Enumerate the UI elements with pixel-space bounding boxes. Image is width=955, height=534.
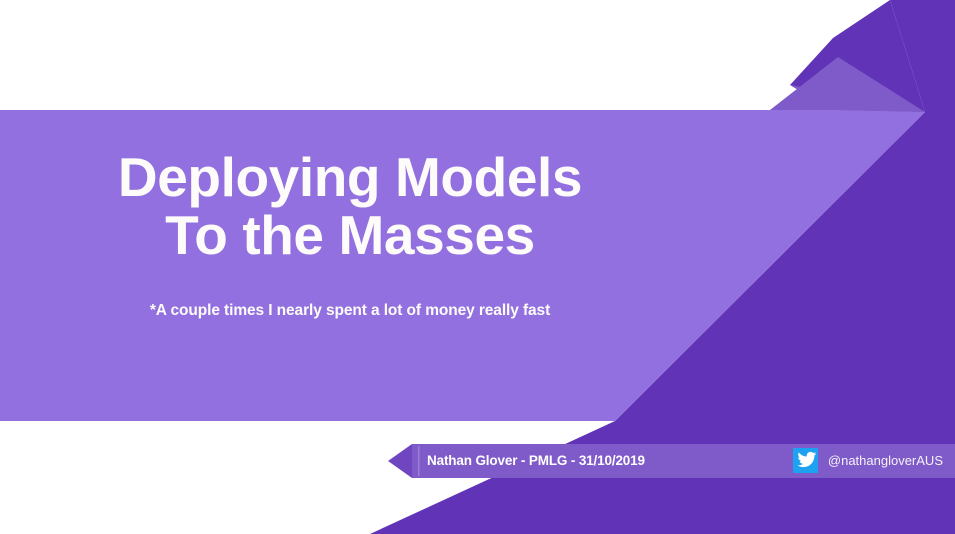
twitter-handle-text[interactable]: @nathangloverAUS bbox=[828, 453, 943, 468]
page-title: Deploying Models To the Masses bbox=[0, 148, 700, 264]
presentation-slide: Deploying Models To the Masses *A couple… bbox=[0, 0, 955, 534]
footer-bar: Nathan Glover - PMLG - 31/10/2019 @natha… bbox=[388, 444, 955, 478]
footer-social-group: @nathangloverAUS bbox=[793, 448, 943, 473]
title-block: Deploying Models To the Masses bbox=[0, 148, 700, 264]
footer-presenter-text: Nathan Glover - PMLG - 31/10/2019 bbox=[427, 453, 645, 468]
footer-bar-divider bbox=[418, 446, 420, 476]
twitter-bird-icon[interactable] bbox=[793, 448, 818, 473]
footer-bar-arrow-tail bbox=[388, 444, 412, 478]
slide-subtitle: *A couple times I nearly spent a lot of … bbox=[0, 302, 700, 320]
subtitle-block: *A couple times I nearly spent a lot of … bbox=[0, 302, 700, 320]
